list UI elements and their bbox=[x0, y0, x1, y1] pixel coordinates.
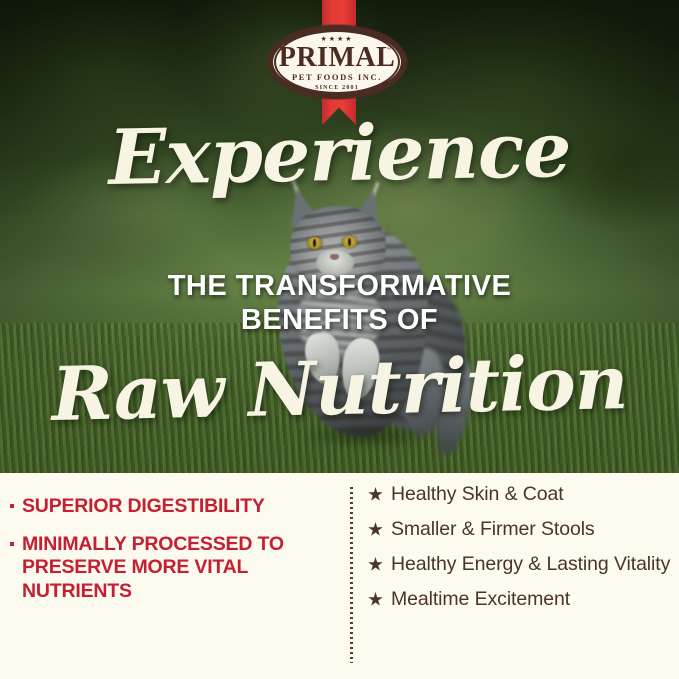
benefit-text: SUPERIOR DIGESTIBILITY bbox=[22, 495, 265, 519]
logo-since-year: SINCE 2001 bbox=[267, 85, 407, 91]
list-item: MINIMALLY PROCESSED TO PRESERVE MORE VIT… bbox=[10, 533, 342, 604]
primal-logo[interactable]: ★★★★ PRIMAL ™ PET FOODS INC. SINCE 2001 bbox=[267, 25, 407, 99]
list-item: SUPERIOR DIGESTIBILITY bbox=[10, 495, 342, 519]
headline-raw-nutrition: Raw Nutrition bbox=[0, 345, 679, 433]
list-item: Healthy Skin & Coat bbox=[368, 483, 673, 506]
star-bullet-icon bbox=[368, 487, 383, 502]
hero-photo-section: ★★★★ PRIMAL ™ PET FOODS INC. SINCE 2001 … bbox=[0, 0, 679, 473]
benefit-text: MINIMALLY PROCESSED TO PRESERVE MORE VIT… bbox=[22, 533, 342, 604]
benefit-text: Healthy Energy & Lasting Vitality bbox=[391, 553, 670, 576]
dot-bullet-icon bbox=[10, 504, 14, 508]
star-bullet-icon bbox=[368, 522, 383, 537]
benefit-text: Mealtime Excitement bbox=[391, 588, 570, 611]
benefit-text: Healthy Skin & Coat bbox=[391, 483, 564, 506]
list-item: Healthy Energy & Lasting Vitality bbox=[368, 553, 673, 576]
headline-experience: Experience bbox=[0, 112, 679, 196]
star-bullet-icon bbox=[368, 592, 383, 607]
star-bullet-icon bbox=[368, 557, 383, 572]
headline-line-1: THE TRANSFORMATIVE bbox=[0, 269, 679, 303]
dotted-column-divider bbox=[350, 487, 353, 663]
list-item: Smaller & Firmer Stools bbox=[368, 518, 673, 541]
list-item: Mealtime Excitement bbox=[368, 588, 673, 611]
benefits-left-column: SUPERIOR DIGESTIBILITY MINIMALLY PROCESS… bbox=[10, 495, 342, 617]
logo-trademark-symbol: ™ bbox=[386, 47, 391, 53]
dot-bullet-icon bbox=[10, 542, 14, 546]
logo-subtitle: PET FOODS INC. bbox=[267, 73, 407, 82]
cat-eye-right bbox=[342, 236, 357, 248]
headline-transformative-benefits: THE TRANSFORMATIVE BENEFITS OF bbox=[0, 269, 679, 337]
headline-line-2: BENEFITS OF bbox=[0, 303, 679, 337]
benefit-text: Smaller & Firmer Stools bbox=[391, 518, 595, 541]
primal-pet-foods-promo-poster: ★★★★ PRIMAL ™ PET FOODS INC. SINCE 2001 … bbox=[0, 0, 679, 679]
cat-eye-left bbox=[307, 237, 322, 249]
benefits-right-column: Healthy Skin & Coat Smaller & Firmer Sto… bbox=[368, 483, 673, 623]
cat-nose bbox=[330, 254, 339, 260]
